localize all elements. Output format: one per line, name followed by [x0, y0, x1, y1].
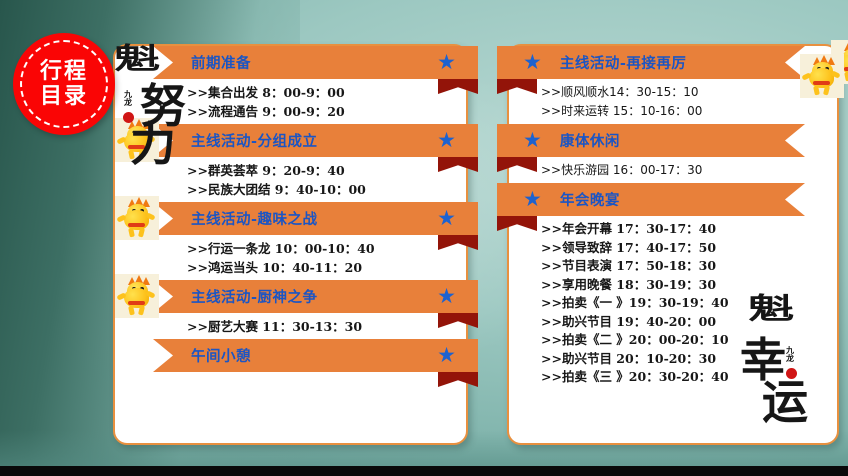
- schedule-item: >>厨艺大赛 11：30-13：30: [187, 317, 466, 336]
- star-icon: ★: [523, 52, 542, 73]
- schedule-item: >>快乐游园 16：00-17：30: [541, 161, 837, 180]
- schedule-item: >>顺风顺水14：30-15：10: [541, 83, 837, 102]
- star-icon: ★: [437, 208, 456, 229]
- schedule-item: >>时来运转 15：10-16：00: [541, 102, 837, 121]
- schedule-item: >>年会开幕 17：30-17：40: [541, 220, 837, 239]
- dragon-mascot-icon: [800, 54, 844, 98]
- star-icon: ★: [437, 52, 456, 73]
- block-item-list: >>厨艺大赛 11：30-13：30: [115, 313, 466, 339]
- schedule-item: >>节目表演 17：50-18：30: [541, 257, 837, 276]
- schedule-item: >>集合出发 8：00-9：00: [187, 83, 466, 102]
- itinerary-block: 主线活动-分组成立★>>群英荟萃 9：20-9：40>>民族大团结 9：40-1…: [115, 124, 466, 202]
- star-icon: ★: [523, 189, 542, 210]
- block-banner[interactable]: ★主线活动-再接再厉: [497, 46, 805, 79]
- block-item-list: >>集合出发 8：00-9：00>>流程通告 9：00-9：20: [115, 79, 466, 124]
- dragon-mascot-icon: [115, 274, 159, 318]
- block-title: 前期准备: [191, 52, 437, 73]
- star-icon: ★: [437, 345, 456, 366]
- block-banner[interactable]: 主线活动-厨神之争★: [153, 280, 478, 313]
- itinerary-badge: 行程 目录: [13, 33, 115, 135]
- right-block-list: ★主线活动-再接再厉>>顺风顺水14：30-15：10>>时来运转 15：10-…: [509, 46, 837, 390]
- schedule-item: >>行运一条龙 10：00-10：40: [187, 239, 466, 258]
- schedule-item: >>享用晚餐 18：30-19：30: [541, 276, 837, 295]
- block-title: 主线活动-再接再厉: [560, 52, 687, 73]
- badge-text: 行程 目录: [40, 59, 88, 109]
- block-title: 康体休闲: [560, 130, 620, 151]
- dragon-mascot-icon: [115, 196, 159, 240]
- block-title: 主线活动-厨神之争: [191, 286, 437, 307]
- itinerary-block: 主线活动-厨神之争★>>厨艺大赛 11：30-13：30: [115, 280, 466, 339]
- badge-line-2: 目录: [40, 84, 88, 109]
- star-icon: ★: [437, 286, 456, 307]
- block-banner[interactable]: 主线活动-趣味之战★: [153, 202, 478, 235]
- block-item-list: >>顺风顺水14：30-15：10>>时来运转 15：10-16：00: [509, 79, 837, 124]
- block-banner[interactable]: 午间小憩★: [153, 339, 478, 372]
- star-icon: ★: [437, 130, 456, 151]
- itinerary-block: ★年会晚宴>>年会开幕 17：30-17：40>>领导致辞 17：40-17：5…: [509, 183, 837, 390]
- block-item-list: >>快乐游园 16：00-17：30: [509, 157, 837, 183]
- schedule-item: >>流程通告 9：00-9：20: [187, 102, 466, 121]
- block-title: 主线活动-趣味之战: [191, 208, 437, 229]
- block-title: 年会晚宴: [560, 189, 620, 210]
- block-banner[interactable]: ★年会晚宴: [497, 183, 805, 216]
- block-banner[interactable]: ★康体休闲: [497, 124, 805, 157]
- schedule-item: >>拍卖《三 》20：30-20：40: [541, 368, 837, 387]
- slide-canvas: 前期准备★>>集合出发 8：00-9：00>>流程通告 9：00-9：20主线活…: [0, 0, 848, 476]
- block-banner[interactable]: 主线活动-分组成立★: [153, 124, 478, 157]
- itinerary-block: 午间小憩★: [115, 339, 466, 379]
- schedule-item: >>拍卖《一 》19：30-19：40: [541, 294, 837, 313]
- left-itinerary-card: 前期准备★>>集合出发 8：00-9：00>>流程通告 9：00-9：20主线活…: [113, 44, 468, 445]
- block-item-list: >>行运一条龙 10：00-10：40>>鸿运当头 10：40-11：20: [115, 235, 466, 280]
- schedule-item: >>拍卖《二 》20：00-20：10: [541, 331, 837, 350]
- schedule-item: >>领导致辞 17：40-17：50: [541, 239, 837, 258]
- block-item-list: >>年会开幕 17：30-17：40>>领导致辞 17：40-17：50>>节目…: [509, 216, 837, 390]
- block-item-list: [115, 372, 466, 379]
- block-title: 午间小憩: [191, 345, 437, 366]
- dragon-mascot-icon: [115, 118, 159, 162]
- itinerary-block: ★康体休闲>>快乐游园 16：00-17：30: [509, 124, 837, 183]
- star-icon: ★: [523, 130, 542, 151]
- schedule-item: >>助兴节目 19：40-20：00: [541, 313, 837, 332]
- block-title: 主线活动-分组成立: [191, 130, 437, 151]
- left-block-list: 前期准备★>>集合出发 8：00-9：00>>流程通告 9：00-9：20主线活…: [115, 46, 466, 379]
- badge-line-1: 行程: [40, 59, 88, 84]
- block-banner[interactable]: 前期准备★: [153, 46, 478, 79]
- banner-fold-shadow: [438, 372, 478, 387]
- right-itinerary-card: ★主线活动-再接再厉>>顺风顺水14：30-15：10>>时来运转 15：10-…: [507, 44, 839, 445]
- schedule-item: >>鸿运当头 10：40-11：20: [187, 258, 466, 277]
- schedule-item: >>民族大团结 9：40-10：00: [187, 180, 466, 199]
- itinerary-block: 前期准备★>>集合出发 8：00-9：00>>流程通告 9：00-9：20: [115, 46, 466, 124]
- schedule-item: >>群英荟萃 9：20-9：40: [187, 161, 466, 180]
- itinerary-block: 主线活动-趣味之战★>>行运一条龙 10：00-10：40>>鸿运当头 10：4…: [115, 202, 466, 280]
- block-item-list: >>群英荟萃 9：20-9：40>>民族大团结 9：40-10：00: [115, 157, 466, 202]
- itinerary-block: ★主线活动-再接再厉>>顺风顺水14：30-15：10>>时来运转 15：10-…: [509, 46, 837, 124]
- schedule-item: >>助兴节目 20：10-20：30: [541, 350, 837, 369]
